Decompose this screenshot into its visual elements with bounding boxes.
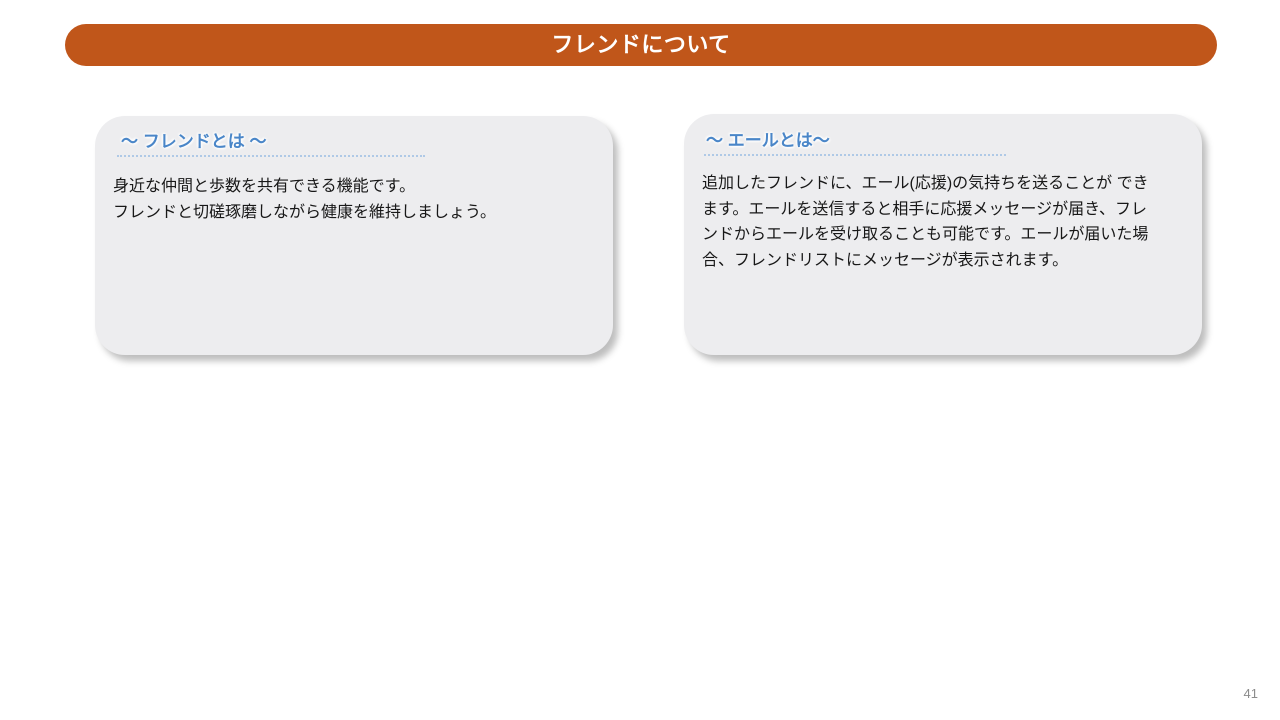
card-yell-inner: 〜 エールとは〜 追加したフレンドに、エール(応援)の気持ちを送ることが でき … <box>684 114 1202 355</box>
page-title: フレンドについて <box>551 34 730 56</box>
card-yell-heading: 〜 エールとは〜 <box>706 126 830 151</box>
page-number: 41 <box>1244 687 1258 700</box>
title-banner: フレンドについて <box>65 24 1217 66</box>
card-friend-inner: 〜 フレンドとは 〜 身近な仲間と歩数を共有できる機能です。 フレンドと切磋琢磨… <box>95 116 613 355</box>
card-friend-heading-rule <box>117 155 425 157</box>
slide: フレンドについて 〜 フレンドとは 〜 身近な仲間と歩数を共有できる機能です。 … <box>0 0 1280 720</box>
card-friend-heading: 〜 フレンドとは 〜 <box>121 127 266 152</box>
card-yell-heading-rule <box>704 154 1006 156</box>
card-friend: 〜 フレンドとは 〜 身近な仲間と歩数を共有できる機能です。 フレンドと切磋琢磨… <box>95 116 613 355</box>
card-friend-body: 身近な仲間と歩数を共有できる機能です。 フレンドと切磋琢磨しながら健康を維持しま… <box>113 174 583 225</box>
card-yell-body: 追加したフレンドに、エール(応援)の気持ちを送ることが でき ます。エールを送信… <box>702 171 1192 273</box>
card-yell: 〜 エールとは〜 追加したフレンドに、エール(応援)の気持ちを送ることが でき … <box>684 114 1202 355</box>
